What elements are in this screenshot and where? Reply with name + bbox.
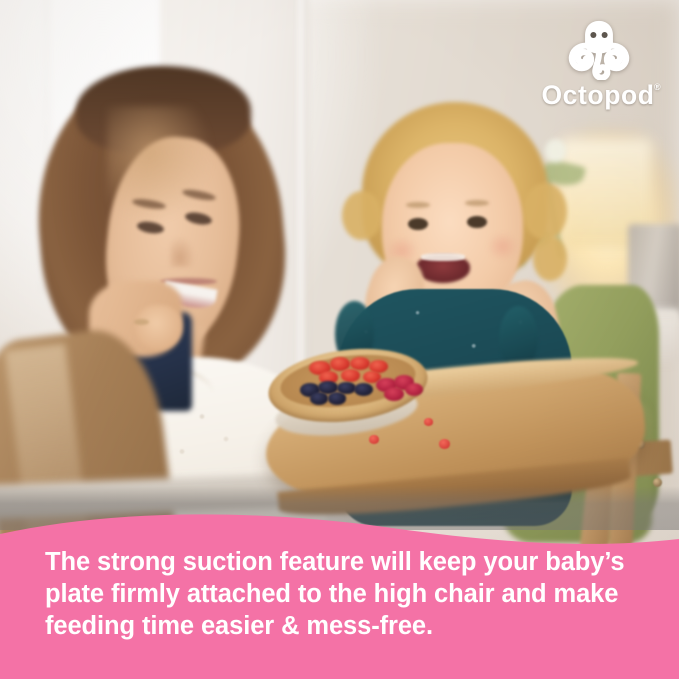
toddler-teeth	[421, 253, 465, 260]
toddler-curl-right	[523, 183, 567, 240]
food-crumb	[369, 435, 379, 444]
octopus-logo-icon	[568, 18, 630, 80]
marketing-banner: The strong suction feature will keep you…	[0, 494, 679, 679]
toddler-curl-right-2	[533, 236, 567, 281]
food-crumb	[439, 439, 450, 449]
brand-wordmark: Octopod	[524, 80, 672, 111]
food-blueberry	[310, 392, 328, 404]
banner-copy: The strong suction feature will keep you…	[45, 546, 645, 642]
toddler-brow-right	[465, 200, 489, 207]
toddler-eye-right	[467, 216, 487, 228]
toddler-cheek-right	[487, 232, 519, 261]
food-raspberry	[384, 387, 404, 401]
food-blueberry	[328, 392, 346, 404]
mother-nose	[170, 236, 195, 267]
product-lifestyle-image: Octopod ® The strong suction feature wil…	[0, 0, 679, 679]
food-crumb	[424, 418, 433, 426]
registered-trademark-icon: ®	[654, 82, 661, 92]
brand-logo: Octopod ®	[524, 18, 672, 114]
food-strawberry	[350, 357, 370, 370]
toddler-curl-left	[342, 191, 381, 240]
food-strawberry	[341, 369, 360, 381]
food-raspberry	[405, 383, 423, 396]
